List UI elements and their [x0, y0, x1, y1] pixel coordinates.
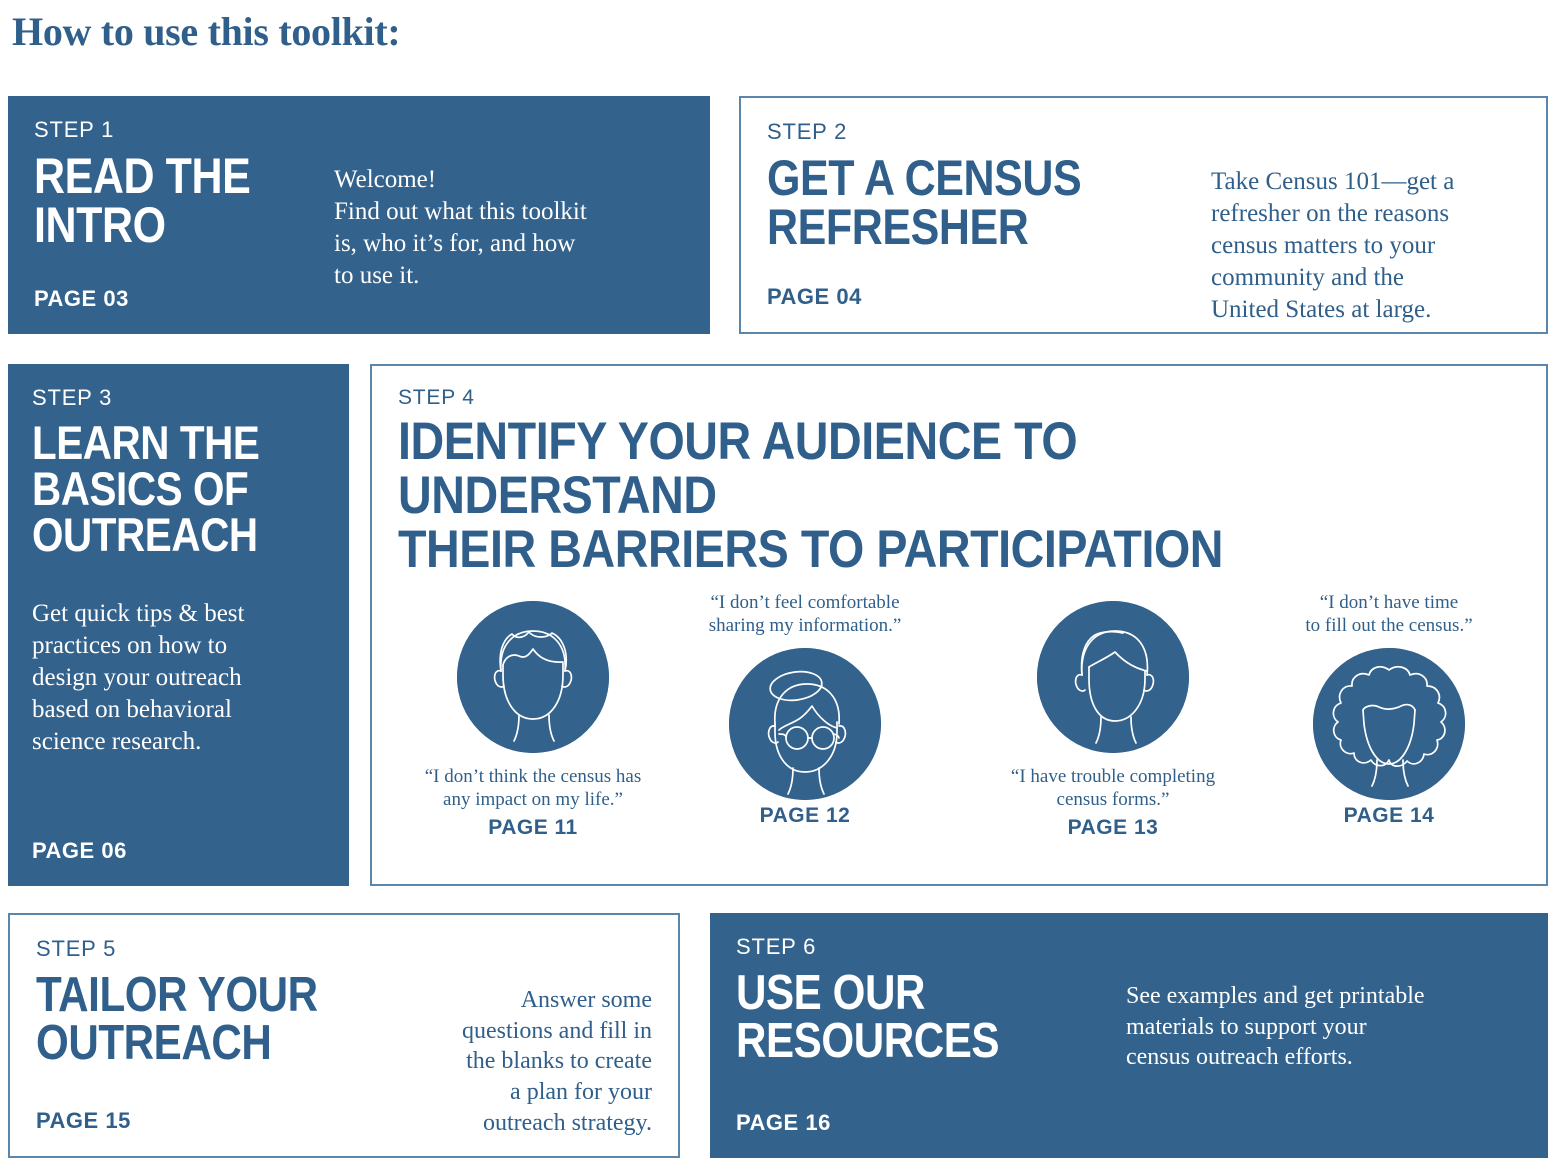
face-afro-icon — [1313, 648, 1465, 800]
persona-page-label-3: PAGE 13 — [978, 816, 1248, 840]
step-label-1: STEP 1 — [34, 118, 334, 142]
page-label-3: PAGE 06 — [32, 838, 325, 864]
page-label-6: PAGE 16 — [736, 1110, 1126, 1136]
persona-card-3[interactable]: “I have trouble completing census forms.… — [978, 601, 1248, 839]
step-card-1[interactable]: STEP 1 READ THE INTRO PAGE 03 Welcome! F… — [8, 96, 710, 334]
step-card-2[interactable]: STEP 2 GET A CENSUS REFRESHER PAGE 04 Ta… — [739, 96, 1548, 334]
step-label-3: STEP 3 — [32, 386, 325, 410]
page-label-5: PAGE 15 — [36, 1108, 406, 1134]
step-card-3[interactable]: STEP 3 LEARN THE BASICS OF OUTREACH Get … — [8, 364, 349, 886]
persona-page-label-4: PAGE 14 — [1254, 804, 1524, 828]
step-body-2: Take Census 101—get a refresher on the r… — [1187, 166, 1520, 326]
page-title: How to use this toolkit: — [12, 8, 400, 55]
persona-card-2[interactable]: “I don’t feel comfortable sharing my inf… — [670, 591, 940, 827]
face-wavy-hair-icon — [457, 601, 609, 753]
step-label-2: STEP 2 — [767, 120, 1187, 144]
step-heading-2: GET A CENSUS REFRESHER — [767, 154, 1128, 252]
persona-quote-4: “I don’t have time to fill out the censu… — [1254, 591, 1524, 637]
persona-page-label-1: PAGE 11 — [398, 816, 668, 840]
step-label-5: STEP 5 — [36, 937, 406, 961]
step-heading-3: LEARN THE BASICS OF OUTREACH — [32, 420, 284, 558]
step-heading-4: IDENTIFY YOUR AUDIENCE TO UNDERSTAND THE… — [398, 415, 1385, 577]
persona-quote-1: “I don’t think the census has any impact… — [398, 765, 668, 811]
step-body-6: See examples and get printable materials… — [1126, 981, 1522, 1073]
page-label-2: PAGE 04 — [767, 284, 1187, 310]
persona-quote-3: “I have trouble completing census forms.… — [978, 765, 1248, 811]
step-body-5: Answer some questions and fill in the bl… — [406, 985, 652, 1139]
face-side-part-icon — [1037, 601, 1189, 753]
step-body-3: Get quick tips & best practices on how t… — [32, 598, 325, 758]
step-body-1: Welcome! Find out what this toolkit is, … — [334, 164, 684, 292]
page-label-1: PAGE 03 — [34, 286, 334, 312]
persona-card-1[interactable]: “I don’t think the census has any impact… — [398, 601, 668, 839]
persona-row: “I don’t think the census has any impact… — [398, 591, 1520, 866]
step-heading-1: READ THE INTRO — [34, 152, 292, 250]
face-glasses-bun-icon — [729, 648, 881, 800]
persona-quote-2: “I don’t feel comfortable sharing my inf… — [670, 591, 940, 637]
step-label-4: STEP 4 — [398, 386, 1520, 409]
persona-card-4[interactable]: “I don’t have time to fill out the censu… — [1254, 591, 1524, 827]
step-card-5[interactable]: STEP 5 TAILOR YOUR OUTREACH PAGE 15 Answ… — [8, 913, 680, 1158]
step-label-6: STEP 6 — [736, 935, 1126, 959]
persona-page-label-2: PAGE 12 — [670, 804, 940, 828]
step-card-4[interactable]: STEP 4 IDENTIFY YOUR AUDIENCE TO UNDERST… — [370, 364, 1548, 886]
step-card-6[interactable]: STEP 6 USE OUR RESOURCES PAGE 16 See exa… — [710, 913, 1548, 1158]
step-heading-6: USE OUR RESOURCES — [736, 969, 1071, 1065]
step-heading-5: TAILOR YOUR OUTREACH — [36, 971, 354, 1067]
